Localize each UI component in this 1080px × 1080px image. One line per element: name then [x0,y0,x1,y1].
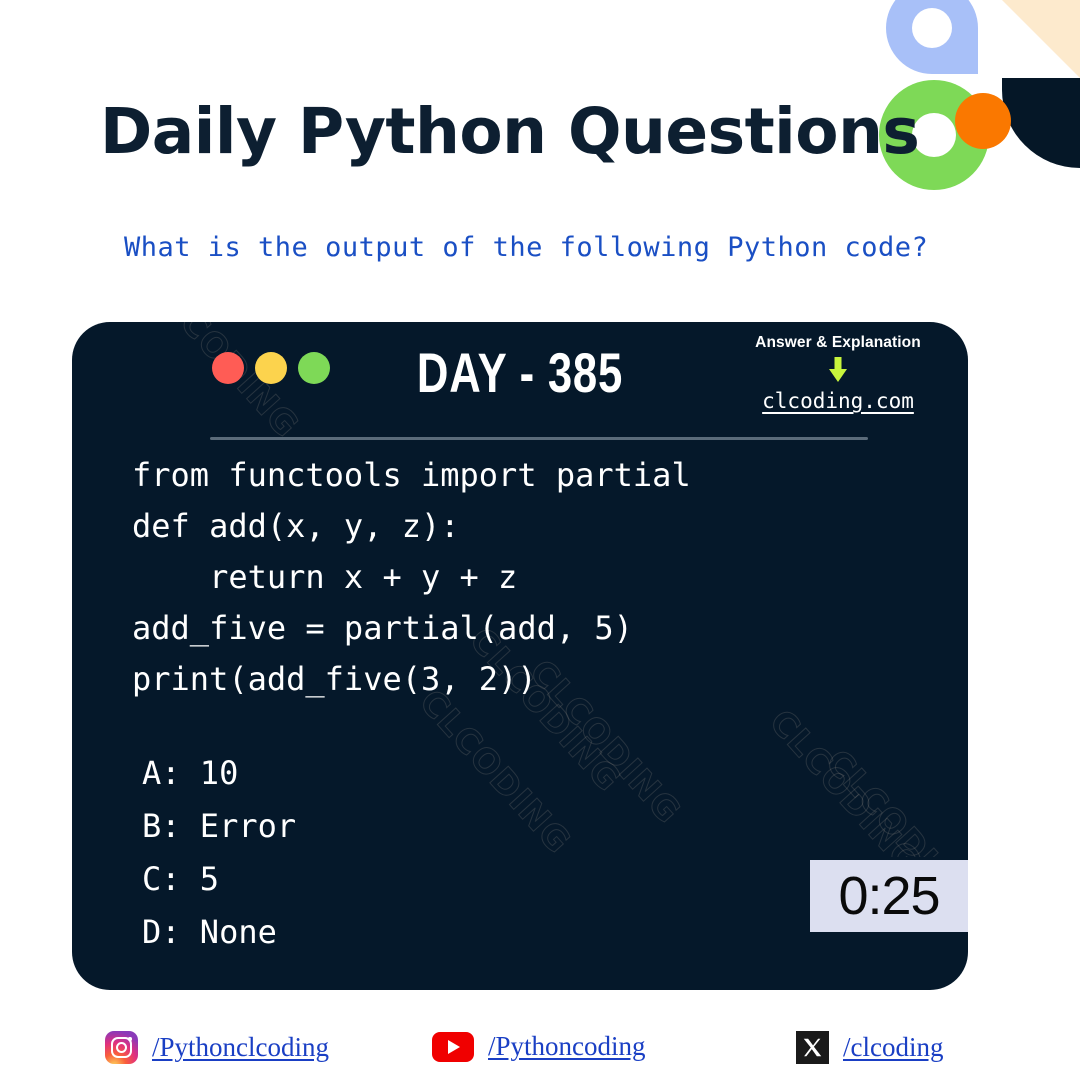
navy-quarter-shape [1002,78,1080,168]
answer-options: A: 10 B: Error C: 5 D: None [142,747,296,959]
code-card: CLCODING CLCODING CLCODING CLCODING CLCO… [72,322,968,990]
blue-a-hole [912,8,952,48]
blue-a-logo-icon [886,0,978,74]
answer-block: Answer & Explanation clcoding.com [738,334,938,413]
youtube-icon [432,1032,474,1062]
question-prompt: What is the output of the following Pyth… [124,232,928,263]
arrow-down-icon [829,357,847,388]
x-twitter-icon [796,1031,829,1064]
social-handle-instagram[interactable]: /Pythonclcoding [152,1032,329,1063]
social-handle-x[interactable]: /clcoding [843,1032,943,1063]
answer-link[interactable]: clcoding.com [738,389,938,413]
card-divider [210,437,868,440]
page-title: Daily Python Questions [100,95,919,168]
beige-triangle-shape [1002,0,1080,78]
timer-box: 0:25 [807,857,968,935]
social-link-youtube[interactable]: /Pythoncoding [432,1031,646,1062]
footer: /Pythonclcoding /Pythoncoding /clcoding [0,1022,1080,1080]
answer-label: Answer & Explanation [738,334,938,352]
card-header: DAY - 385 Answer & Explanation clcoding.… [72,322,968,440]
social-handle-youtube[interactable]: /Pythoncoding [488,1031,646,1062]
watermark-clcoding: CLCODING [411,682,578,862]
watermark-clcoding: CLCODING [761,702,928,882]
orange-dot-icon [955,93,1011,149]
social-link-instagram[interactable]: /Pythonclcoding [105,1031,329,1064]
instagram-icon [105,1031,138,1064]
code-block: from functools import partial def add(x,… [132,450,691,705]
timer-value: 0:25 [838,865,939,927]
social-link-x[interactable]: /clcoding [796,1031,943,1064]
